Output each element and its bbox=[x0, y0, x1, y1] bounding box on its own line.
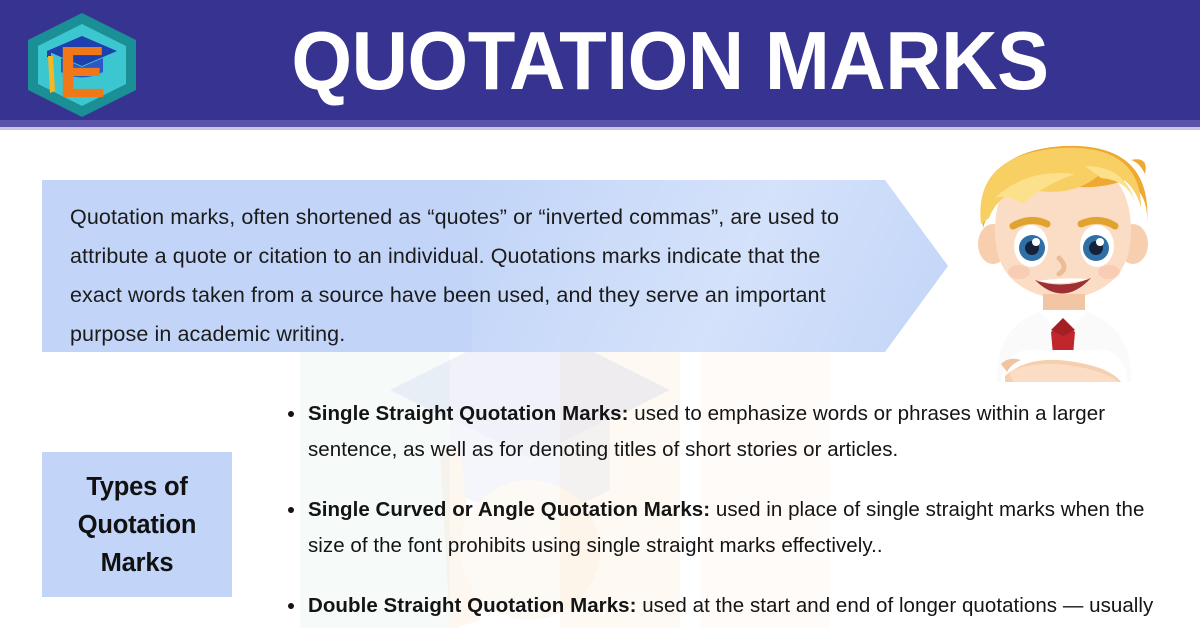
header-bar: E QUOTATION MARKS bbox=[0, 0, 1200, 120]
types-label-box: Types of Quotation Marks bbox=[42, 452, 232, 597]
bullet-term: Single Straight Quotation Marks: bbox=[308, 402, 629, 425]
list-item: Single Curved or Angle Quotation Marks: … bbox=[282, 492, 1182, 564]
list-item: Double Straight Quotation Marks: used at… bbox=[282, 588, 1182, 628]
header-underline bbox=[0, 120, 1200, 127]
types-label-text: Types of Quotation Marks bbox=[78, 468, 197, 582]
svg-text:E: E bbox=[58, 33, 106, 113]
types-label-line2: Quotation bbox=[78, 511, 197, 539]
bullet-term: Double Straight Quotation Marks: bbox=[308, 594, 636, 617]
infographic-page: E QUOTATION MARKS Quotation marks, often… bbox=[0, 0, 1200, 628]
list-item: Single Straight Quotation Marks: used to… bbox=[282, 396, 1182, 468]
header-hairline bbox=[0, 127, 1200, 130]
intro-text: Quotation marks, often shortened as “quo… bbox=[70, 198, 870, 354]
types-label-line1: Types of bbox=[86, 473, 187, 501]
bullet-term: Single Curved or Angle Quotation Marks: bbox=[308, 498, 710, 521]
types-label-line3: Marks bbox=[101, 549, 174, 577]
graduation-cap-e-logo: E bbox=[17, 9, 147, 121]
types-bullet-list: Single Straight Quotation Marks: used to… bbox=[282, 396, 1182, 628]
page-title: QUOTATION MARKS bbox=[181, 0, 1159, 120]
intro-callout-box: Quotation marks, often shortened as “quo… bbox=[42, 180, 948, 352]
cartoon-schoolboy-illustration bbox=[935, 132, 1195, 382]
